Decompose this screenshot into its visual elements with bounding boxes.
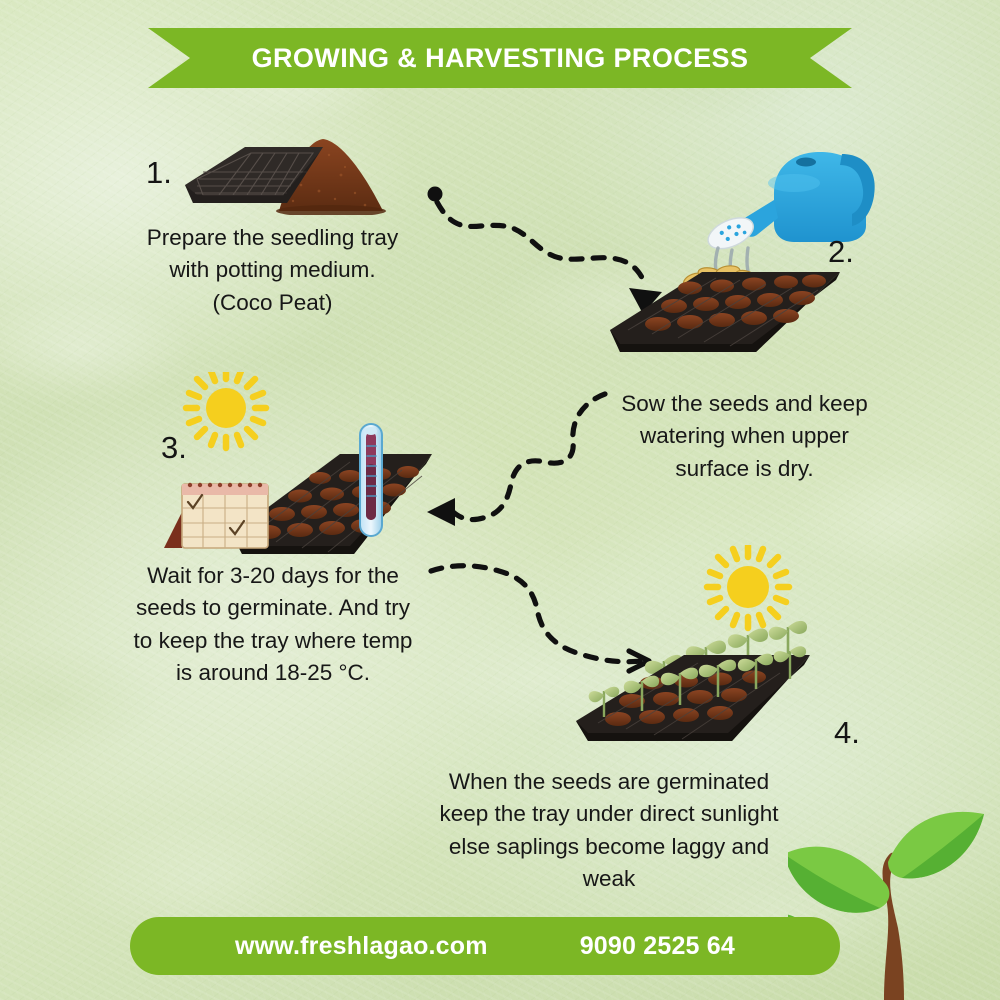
step-1-number: 1. [146, 157, 172, 188]
footer-bar: www.freshlagao.com 9090 2525 64 [130, 917, 840, 975]
step-1-illustration [183, 133, 408, 215]
step-4-number: 4. [834, 717, 860, 748]
sun-icon [707, 546, 789, 628]
page-title: GROWING & HARVESTING PROCESS [252, 43, 749, 74]
header-banner: GROWING & HARVESTING PROCESS [148, 28, 852, 88]
step-2-number: 2. [828, 236, 854, 267]
step-3-illustration [150, 372, 440, 557]
step-1-caption: Prepare the seedling tray with potting m… [140, 222, 405, 319]
filled-seedling-tray-icon [610, 272, 840, 352]
calendar-icon [164, 483, 268, 548]
infographic-canvas: GROWING & HARVESTING PROCESS [0, 0, 1000, 1000]
step-4-caption: When the seeds are germinated keep the t… [425, 766, 793, 896]
step-4-illustration [560, 545, 850, 760]
seedling-tray-with-sprouts-icon [576, 621, 810, 741]
step-2-caption: Sow the seeds and keep watering when upp… [612, 388, 877, 485]
step-3-caption: Wait for 3-20 days for the seeds to germ… [128, 560, 418, 690]
step-3-number: 3. [161, 432, 187, 463]
sun-icon [186, 372, 266, 448]
thermometer-icon [360, 424, 382, 536]
footer-website[interactable]: www.freshlagao.com [235, 932, 488, 961]
footer-phone[interactable]: 9090 2525 64 [580, 932, 735, 961]
